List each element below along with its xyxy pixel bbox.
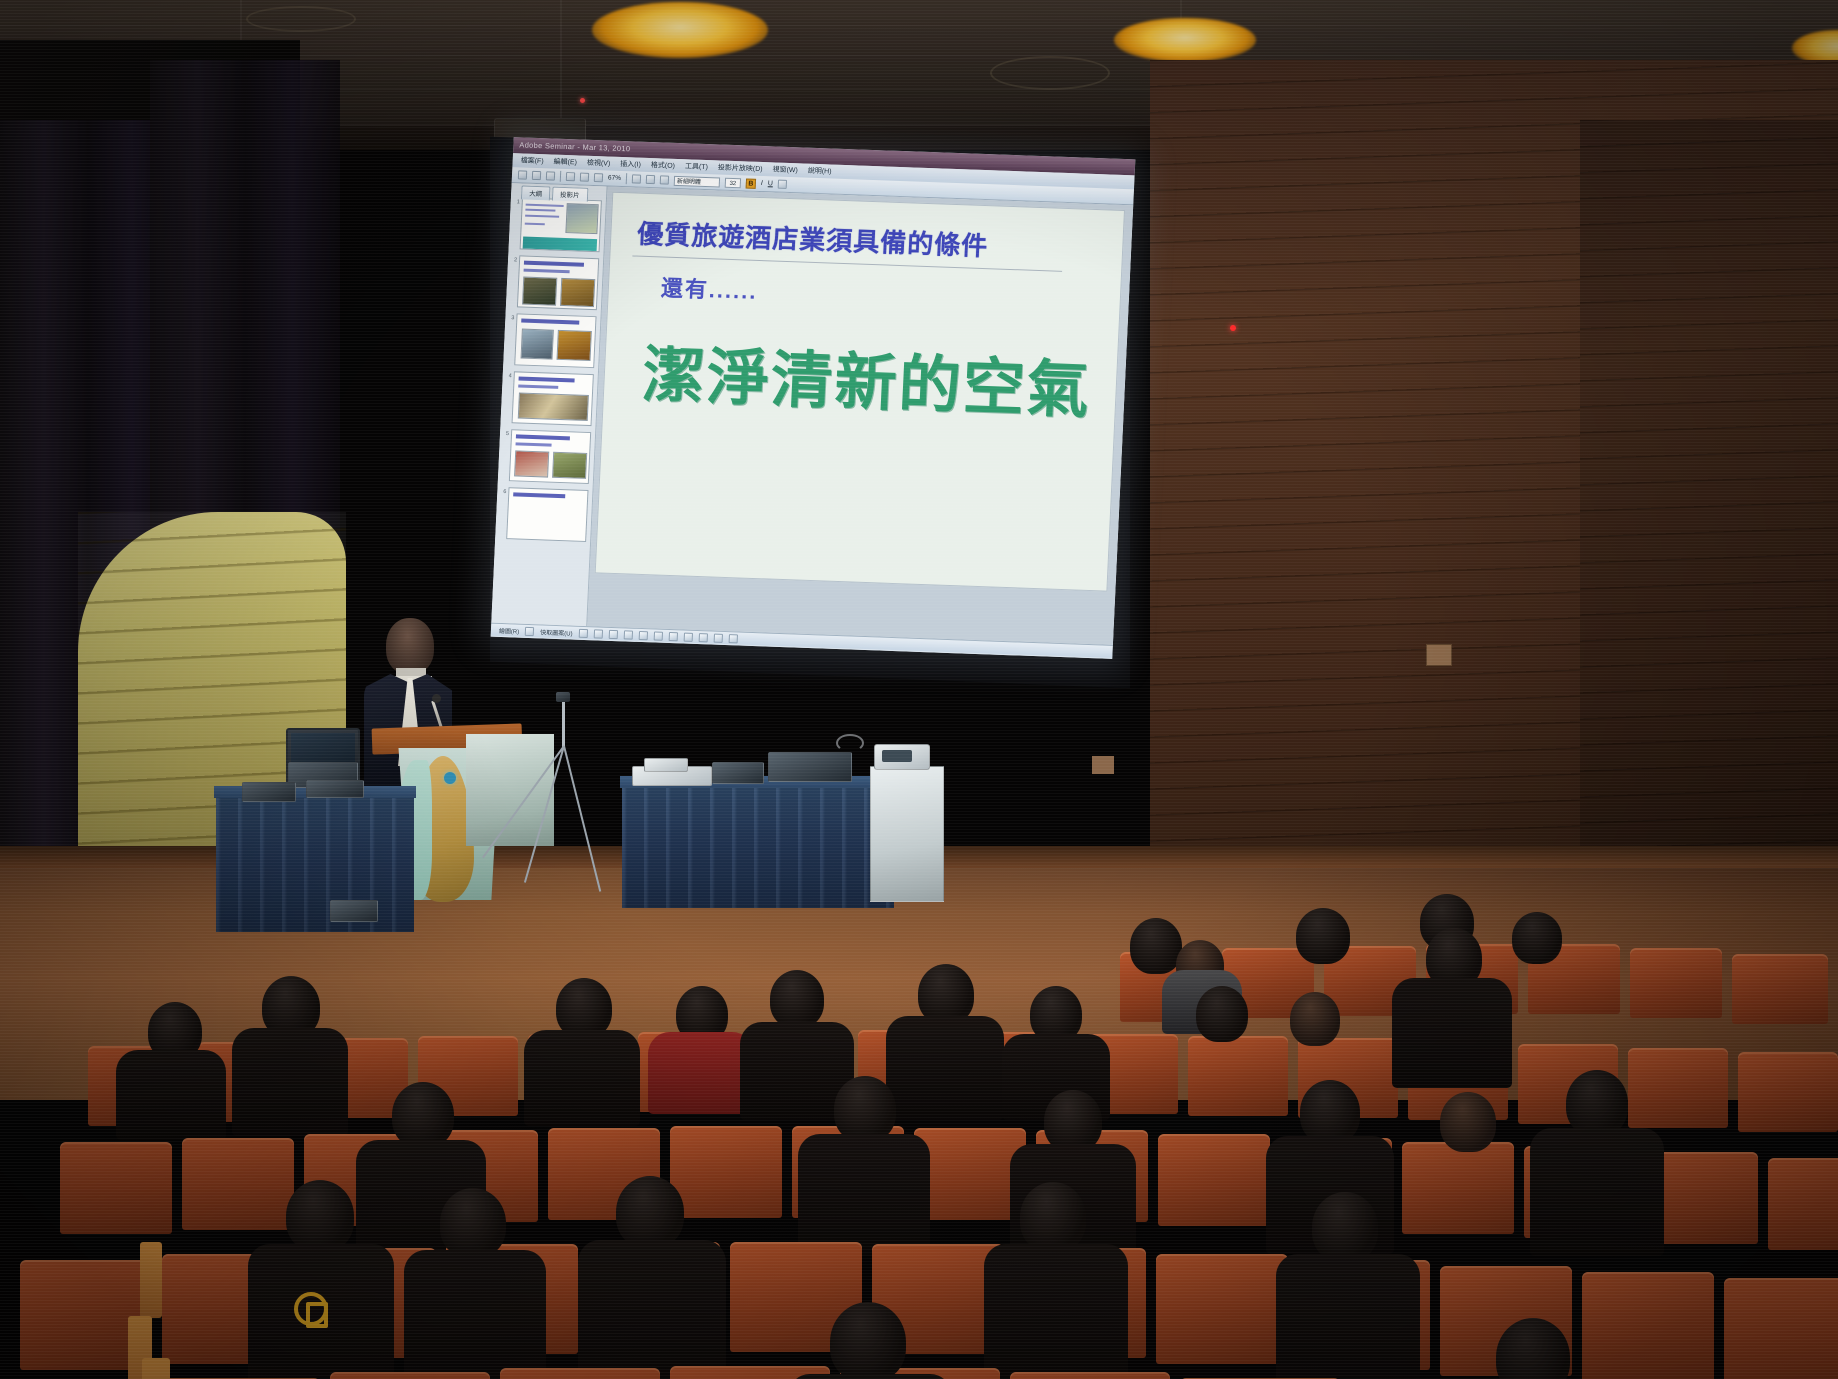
threed-icon[interactable]: [728, 634, 737, 643]
seat: [1582, 1272, 1714, 1379]
new-icon[interactable]: [518, 170, 527, 179]
thumbnail-preview[interactable]: [512, 371, 594, 426]
jacket-logo-icon: [294, 1292, 328, 1326]
thumbnail-number: 6: [499, 487, 506, 495]
audience-torso: [232, 1028, 348, 1136]
menu-item-slideshow[interactable]: 投影片放映(D): [718, 162, 763, 174]
right-av-table: [622, 784, 894, 908]
thumbnail-preview[interactable]: [509, 429, 591, 484]
audience-head: [440, 1188, 506, 1258]
menu-item-tools[interactable]: 工具(T): [685, 161, 708, 172]
menu-item-view[interactable]: 檢視(V): [587, 158, 611, 169]
bold-button[interactable]: B: [746, 178, 756, 188]
audience-torso: [1276, 1254, 1420, 1379]
print-icon[interactable]: [566, 172, 575, 181]
audience-head: [1290, 992, 1340, 1046]
rectangle-icon[interactable]: [608, 629, 617, 638]
tripod-leg: [524, 746, 565, 883]
thumbnail-preview[interactable]: [506, 487, 588, 542]
seat: [1768, 1158, 1838, 1250]
seat: [1628, 1048, 1728, 1128]
menu-item-file[interactable]: 檔案(F): [520, 155, 543, 166]
audience-torso: [788, 1374, 952, 1379]
left-av-table: [216, 792, 414, 932]
audience-head: [770, 970, 824, 1028]
audience-head: [556, 978, 612, 1038]
audience-head: [392, 1082, 454, 1148]
cut-icon[interactable]: [594, 173, 603, 182]
av-equipment-unit[interactable]: [242, 782, 296, 802]
seat: [1402, 1142, 1514, 1234]
seat: [1738, 1052, 1838, 1132]
spellcheck-icon[interactable]: [580, 173, 589, 182]
toolbar-separator: [626, 173, 628, 184]
av-equipment-unit[interactable]: [306, 780, 364, 798]
line-color-icon[interactable]: [683, 632, 692, 641]
equipment-cart: [870, 766, 944, 902]
font-name-box[interactable]: 新細明體: [674, 175, 720, 187]
audience-torso: [116, 1050, 226, 1140]
audience-head: [1440, 1092, 1496, 1152]
podium-emblem: [444, 772, 456, 784]
align-icon[interactable]: [778, 180, 787, 189]
ceiling-recess-ring: [990, 56, 1110, 90]
redo-icon[interactable]: [646, 175, 655, 184]
thumbnail-item[interactable]: 3: [505, 313, 598, 368]
thumbnail-item[interactable]: 5: [500, 429, 593, 484]
stage-curtain-center: [150, 60, 340, 560]
slide-subtitle: 還有......: [660, 271, 758, 306]
slide-headline: 潔淨清新的空氣: [641, 324, 1093, 430]
audience-head: [1044, 1090, 1102, 1152]
shadow-icon[interactable]: [713, 633, 722, 642]
audience-head: [918, 964, 974, 1024]
audience-head: [830, 1302, 906, 1379]
seat: [500, 1368, 660, 1379]
seat-armrest: [142, 1358, 170, 1379]
seat: [1010, 1372, 1170, 1379]
cable-loop: [836, 734, 864, 752]
open-icon[interactable]: [532, 171, 541, 180]
notebook-unit[interactable]: [644, 758, 688, 772]
slide-canvas-area[interactable]: 優質旅遊酒店業須具備的條件 還有...... 潔淨清新的空氣: [587, 187, 1133, 645]
seat: [60, 1142, 172, 1234]
ceiling-light: [592, 2, 768, 58]
audience-head: [1566, 1070, 1628, 1136]
seat: [1188, 1036, 1288, 1116]
seat: [1630, 948, 1722, 1018]
wordart-icon[interactable]: [653, 631, 662, 640]
tripod-head: [556, 692, 570, 702]
thumbnail-number: 2: [510, 255, 517, 263]
audience-head: [1196, 986, 1248, 1042]
draw-menu-label[interactable]: 繪圖(R): [499, 625, 520, 635]
undo-icon[interactable]: [632, 174, 641, 183]
av-equipment-unit[interactable]: [330, 900, 378, 922]
wood-wall-far-right: [1580, 120, 1838, 880]
audience-head: [1020, 1182, 1086, 1252]
thumbnail-preview[interactable]: [517, 255, 599, 310]
audience-head: [1312, 1192, 1378, 1262]
laser-dot: [1230, 325, 1236, 331]
view-tabs[interactable]: 大綱 投影片: [521, 185, 588, 201]
audience-head: [1296, 908, 1350, 964]
thumbnail-number: 3: [507, 313, 514, 321]
thumbnail-number: 4: [505, 371, 512, 379]
table-icon[interactable]: [660, 175, 669, 184]
zoom-value[interactable]: 67%: [608, 175, 621, 182]
thumbnail-item[interactable]: 1: [511, 197, 604, 252]
seat: [330, 1372, 490, 1379]
seat: [1156, 1254, 1288, 1364]
audience-torso: [648, 1032, 754, 1114]
window-title-text: Adobe Seminar - Mar 13, 2010: [519, 140, 630, 153]
audience-torso: [404, 1250, 546, 1379]
underline-button[interactable]: U: [768, 180, 773, 187]
tripod-leg: [563, 746, 601, 892]
italic-button[interactable]: I: [761, 180, 763, 187]
editor-body: 1 2: [491, 183, 1133, 645]
thumbnail-preview[interactable]: [520, 197, 602, 252]
select-arrow-icon[interactable]: [525, 626, 534, 635]
menu-item-help[interactable]: 說明(H): [808, 166, 832, 177]
audience-head: [1512, 912, 1562, 964]
line-icon[interactable]: [578, 628, 587, 637]
menu-item-format[interactable]: 格式(O): [651, 160, 676, 171]
ceiling-recess-ring: [246, 6, 356, 32]
projector-unit[interactable]: [768, 752, 852, 782]
audience-seating: [0, 930, 1838, 1379]
audience-torso: [886, 1016, 1004, 1120]
presenter-head: [386, 618, 434, 674]
autoshapes-label[interactable]: 快取圖案(U): [540, 627, 573, 637]
control-unit[interactable]: [712, 762, 764, 784]
audience-torso: [1392, 978, 1512, 1088]
audience-head: [1130, 918, 1182, 974]
cart-device-screen: [882, 750, 912, 762]
thumbnail-number: 5: [502, 429, 509, 437]
seat: [670, 1126, 782, 1218]
textbox-icon[interactable]: [638, 630, 647, 639]
tab-outline[interactable]: 大綱: [521, 185, 551, 200]
seat: [182, 1138, 294, 1230]
seat: [1724, 1278, 1838, 1379]
tab-slides[interactable]: 投影片: [552, 187, 588, 202]
audience-torso: [798, 1134, 930, 1256]
menu-item-window[interactable]: 視窗(W): [772, 164, 798, 175]
wall-outlet: [1426, 644, 1452, 666]
audience-torso-with-logo: [248, 1244, 394, 1379]
thumbnail-item[interactable]: 2: [508, 255, 601, 310]
wall-outlet: [1092, 756, 1114, 774]
seat: [1158, 1134, 1270, 1226]
menu-item-insert[interactable]: 插入(I): [620, 159, 641, 170]
auditorium-scene: Adobe Seminar - Mar 13, 2010 檔案(F) 編輯(E)…: [0, 0, 1838, 1379]
font-size-box[interactable]: 32: [725, 177, 741, 188]
audience-head: [834, 1076, 896, 1142]
microphone-head: [432, 694, 441, 703]
arrow-icon[interactable]: [593, 629, 602, 638]
ceiling-light: [1114, 18, 1256, 62]
thumbnail-number: 1: [513, 197, 520, 205]
seat-armrest: [140, 1242, 162, 1318]
thumbnail-item[interactable]: 6: [497, 487, 590, 542]
font-color-icon[interactable]: [698, 633, 707, 642]
audience-head: [616, 1176, 684, 1248]
fill-color-icon[interactable]: [668, 631, 677, 640]
save-icon[interactable]: [546, 171, 555, 180]
audience-torso: [578, 1240, 726, 1379]
oval-icon[interactable]: [623, 630, 632, 639]
slide-title: 優質旅遊酒店業須具備的條件: [637, 214, 990, 264]
indicator-led: [580, 98, 585, 103]
seat: [1732, 954, 1828, 1024]
tripod-column: [562, 702, 565, 748]
toolbar-separator: [560, 171, 562, 182]
audience-head: [1300, 1080, 1360, 1144]
audience-torso: [984, 1244, 1128, 1379]
audience-head: [286, 1180, 354, 1252]
audience-torso: [524, 1030, 640, 1126]
powerpoint-window[interactable]: Adobe Seminar - Mar 13, 2010 檔案(F) 編輯(E)…: [491, 137, 1136, 659]
menu-item-edit[interactable]: 編輯(E): [553, 157, 577, 168]
thumbnail-preview[interactable]: [514, 313, 596, 368]
audience-torso: [1530, 1128, 1664, 1256]
current-slide[interactable]: 優質旅遊酒店業須具備的條件 還有...... 潔淨清新的空氣: [595, 192, 1125, 592]
thumbnail-item[interactable]: 4: [503, 371, 596, 426]
